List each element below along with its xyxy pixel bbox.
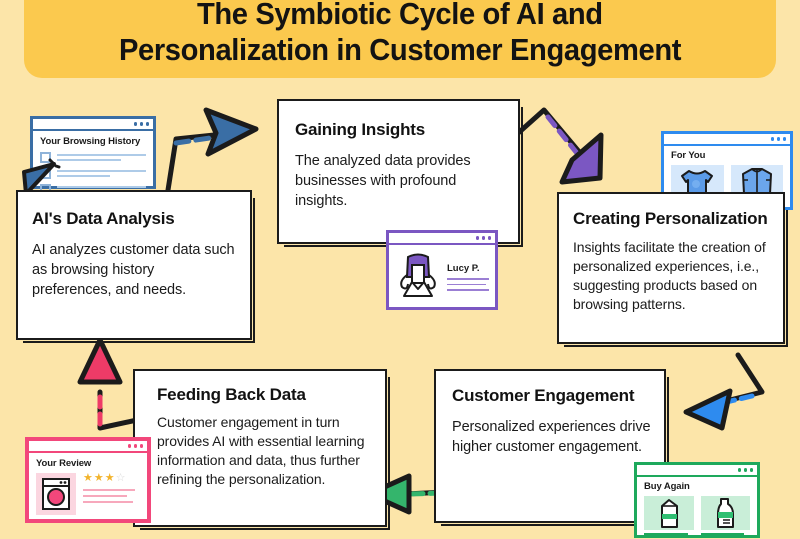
text-lines	[57, 170, 146, 176]
page-title-line-2: Personalization in Customer Engagement	[119, 32, 681, 68]
window-dot-icon	[738, 468, 742, 472]
rating-stars[interactable]: ★ ★ ★ ☆	[83, 473, 135, 484]
window-dot-icon	[476, 236, 480, 240]
window-content: Your Review ★ ★ ★ ☆	[29, 453, 147, 520]
window-dot-icon	[128, 444, 132, 448]
profile-name: Lucy P.	[447, 263, 489, 274]
product-card[interactable]	[701, 496, 751, 535]
arrow-analysis-to-insights	[168, 110, 256, 190]
window-dot-icon	[134, 444, 138, 448]
card-body: Insights facilitate the creation of pers…	[573, 238, 771, 314]
window-dot-icon	[777, 137, 781, 141]
star-filled-icon: ★	[83, 473, 93, 484]
window-dot-icon	[783, 137, 787, 141]
window-titlebar	[33, 119, 153, 131]
star-empty-icon: ☆	[116, 473, 126, 484]
text-lines	[57, 154, 146, 160]
window-profile-lucy: Lucy P.	[386, 230, 498, 310]
star-filled-icon: ★	[105, 473, 115, 484]
milk-carton-icon	[654, 496, 684, 530]
buy-again-title: Buy Again	[644, 481, 750, 492]
star-filled-icon: ★	[94, 473, 104, 484]
card-body: Personalized experiences drive higher cu…	[452, 417, 652, 457]
window-content: Lucy P.	[389, 245, 495, 307]
card-creating-personalization: Creating Personalization Insights facili…	[557, 192, 785, 344]
review-text-lines	[83, 489, 135, 503]
card-body: The analyzed data provides businesses wi…	[295, 151, 504, 211]
window-titlebar	[637, 465, 757, 477]
card-ai-data-analysis: AI's Data Analysis AI analyzes customer …	[16, 190, 252, 340]
card-customer-engagement: Customer Engagement Personalized experie…	[434, 369, 666, 523]
arrow-insights-to-personalization	[516, 110, 601, 182]
window-dot-icon	[744, 468, 748, 472]
window-your-review: Your Review ★ ★ ★ ☆	[25, 437, 151, 523]
person-avatar-icon	[395, 251, 441, 303]
card-gaining-insights: Gaining Insights The analyzed data provi…	[277, 99, 520, 244]
card-body: AI analyzes customer data such as browsi…	[32, 240, 236, 300]
card-body: Customer engagement in turn provides AI …	[157, 413, 373, 489]
window-dot-icon	[134, 122, 138, 126]
card-title: Customer Engagement	[452, 385, 652, 406]
window-dot-icon	[140, 444, 144, 448]
detergent-bottle-icon	[712, 496, 738, 530]
window-dot-icon	[750, 468, 754, 472]
card-title: Gaining Insights	[295, 119, 504, 140]
infographic-canvas: The Symbiotic Cycle of AI and Personaliz…	[0, 0, 800, 530]
card-feeding-back-data: Feeding Back Data Customer engagement in…	[133, 369, 387, 527]
window-buy-again: Buy Again	[634, 462, 760, 538]
card-title: AI's Data Analysis	[32, 208, 236, 229]
window-titlebar	[29, 441, 147, 453]
browsing-history-title: Your Browsing History	[40, 136, 146, 147]
window-dot-icon	[146, 122, 150, 126]
card-title: Creating Personalization	[573, 208, 771, 229]
window-dot-icon	[140, 122, 144, 126]
card-title: Feeding Back Data	[157, 384, 373, 405]
window-dot-icon	[482, 236, 486, 240]
window-titlebar	[664, 134, 790, 146]
window-titlebar	[389, 233, 495, 245]
product-card[interactable]	[644, 496, 694, 535]
for-you-title: For You	[671, 150, 783, 161]
your-review-title: Your Review	[36, 458, 140, 469]
window-dot-icon	[771, 137, 775, 141]
washing-machine-icon	[39, 476, 73, 512]
arrow-personalization-to-engagement	[686, 355, 762, 428]
page-title-line-1: The Symbiotic Cycle of AI and	[197, 0, 603, 32]
title-banner: The Symbiotic Cycle of AI and Personaliz…	[24, 0, 776, 78]
window-dot-icon	[488, 236, 492, 240]
